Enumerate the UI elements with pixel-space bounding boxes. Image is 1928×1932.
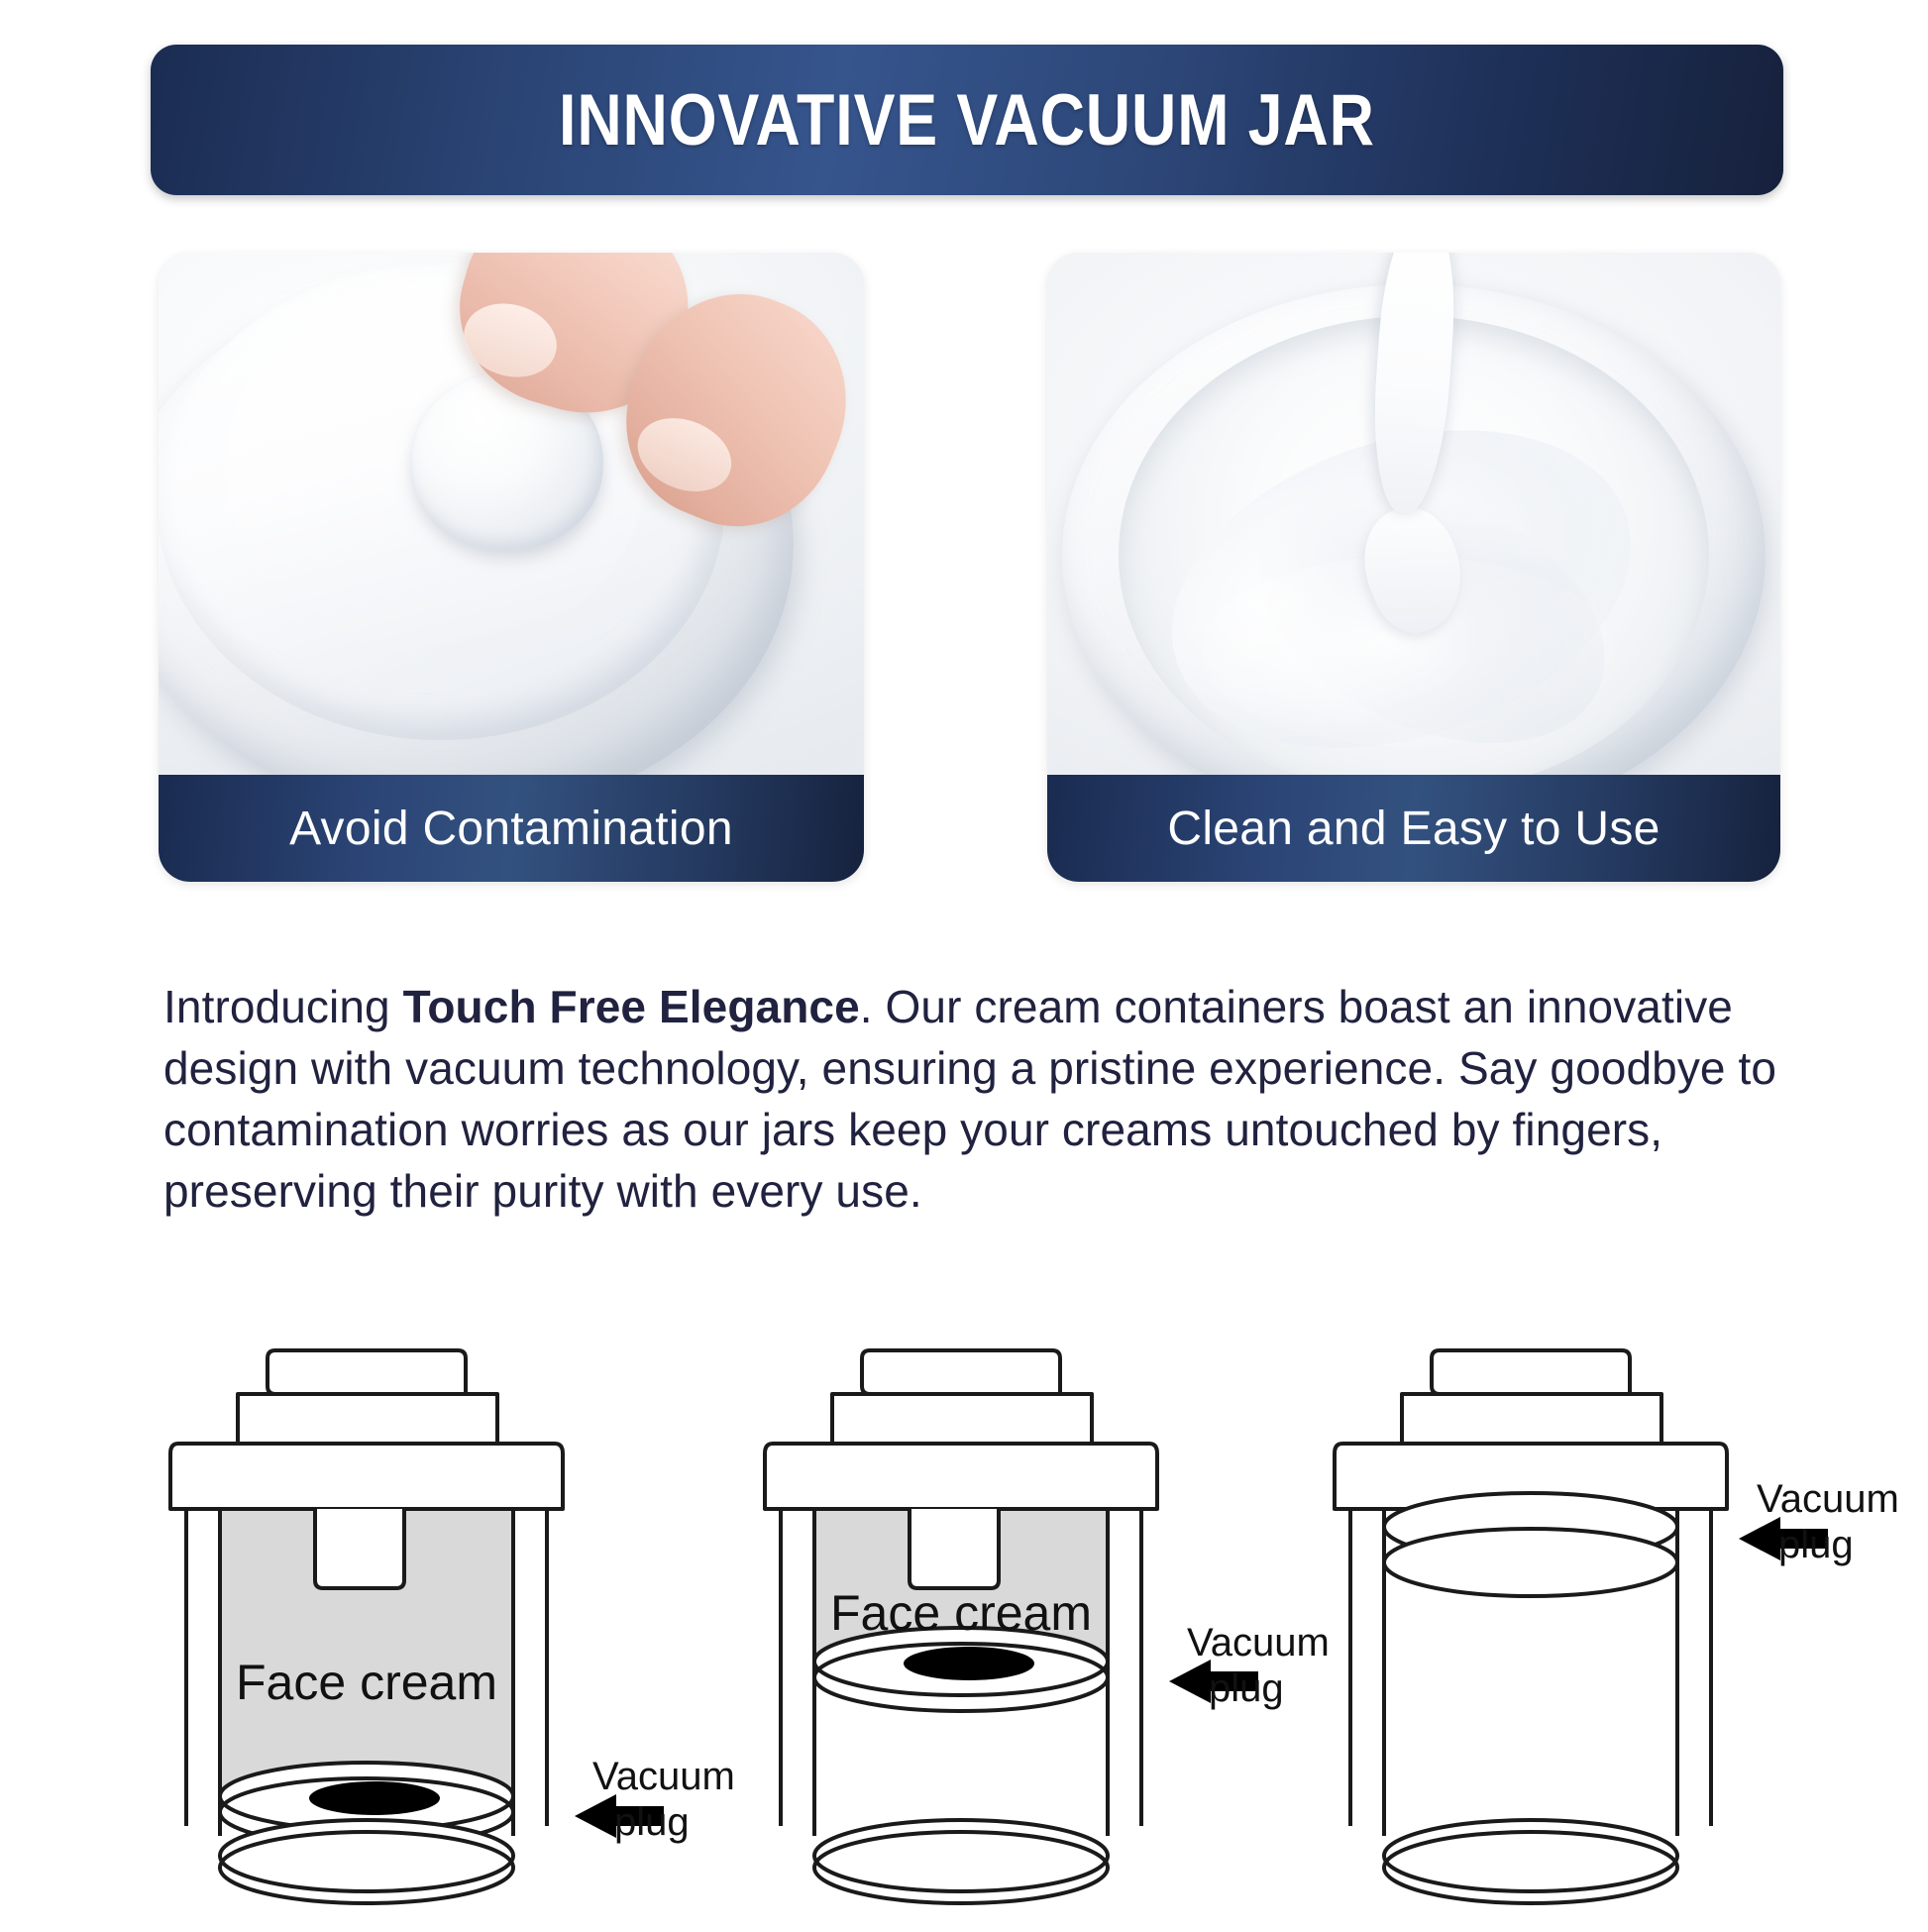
- feature-card-clean-easy: Clean and Easy to Use: [1047, 253, 1780, 882]
- card-caption-label: Avoid Contamination: [289, 802, 733, 856]
- card-caption-bar: Avoid Contamination: [159, 775, 864, 882]
- body-paragraph: Introducing Touch Free Elegance. Our cre…: [163, 976, 1788, 1222]
- jar-diagram-row: Face cream Vacuum plug: [0, 1333, 1928, 1927]
- cream-label-text: Face cream: [830, 1585, 1092, 1641]
- header-banner: INNOVATIVE VACUUM JAR: [151, 45, 1783, 195]
- paragraph-lead: Introducing: [163, 981, 403, 1032]
- infographic-page: INNOVATIVE VACUUM JAR Avoid Contaminatio…: [0, 0, 1928, 1928]
- plug-marker: [309, 1781, 440, 1815]
- card-caption-label: Clean and Easy to Use: [1167, 802, 1660, 856]
- feature-card-avoid-contamination: Avoid Contamination: [159, 253, 864, 882]
- photo-avoid-contamination: [159, 253, 864, 775]
- vacuum-plug-label: Vacuum plug: [1757, 1476, 1899, 1567]
- feature-cards: Avoid Contamination Clean and Easy to Us…: [0, 253, 1928, 887]
- jar-diagram-empty: Vacuum plug: [1273, 1333, 1868, 1927]
- vacuum-plug-label-line2: plug: [1757, 1522, 1899, 1567]
- paragraph-bold-phrase: Touch Free Elegance: [403, 981, 860, 1032]
- cream-label-text: Face cream: [236, 1655, 497, 1710]
- page-title: INNOVATIVE VACUUM JAR: [559, 79, 1375, 161]
- jar-diagram-half: Face cream Vacuum plug: [703, 1333, 1298, 1927]
- card-caption-bar: Clean and Easy to Use: [1047, 775, 1780, 882]
- photo-clean-easy: [1047, 253, 1780, 775]
- plug-marker: [904, 1647, 1034, 1680]
- jar-empty-svg: [1273, 1333, 1868, 1927]
- jar-diagram-full: Face cream Vacuum plug: [109, 1333, 703, 1927]
- vacuum-plug-label-line1: Vacuum: [1757, 1477, 1899, 1521]
